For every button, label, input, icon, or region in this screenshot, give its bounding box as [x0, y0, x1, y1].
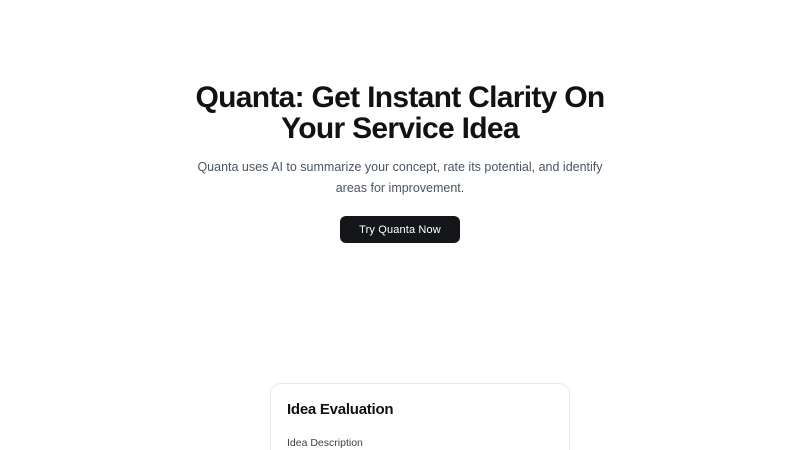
page-title: Quanta: Get Instant Clarity On Your Serv…: [165, 82, 635, 144]
cta-container: Try Quanta Now: [340, 216, 460, 243]
idea-description-label: Idea Description: [287, 436, 553, 450]
idea-description-field: Idea Description: [287, 436, 553, 450]
idea-evaluation-card: Idea Evaluation Idea Description: [270, 383, 570, 450]
hero-section: Quanta: Get Instant Clarity On Your Serv…: [0, 0, 800, 243]
hero-subtitle: Quanta uses AI to summarize your concept…: [181, 157, 619, 199]
idea-evaluation-title: Idea Evaluation: [287, 400, 553, 420]
try-quanta-now-button[interactable]: Try Quanta Now: [340, 216, 460, 243]
landing-page: Quanta: Get Instant Clarity On Your Serv…: [0, 0, 800, 450]
